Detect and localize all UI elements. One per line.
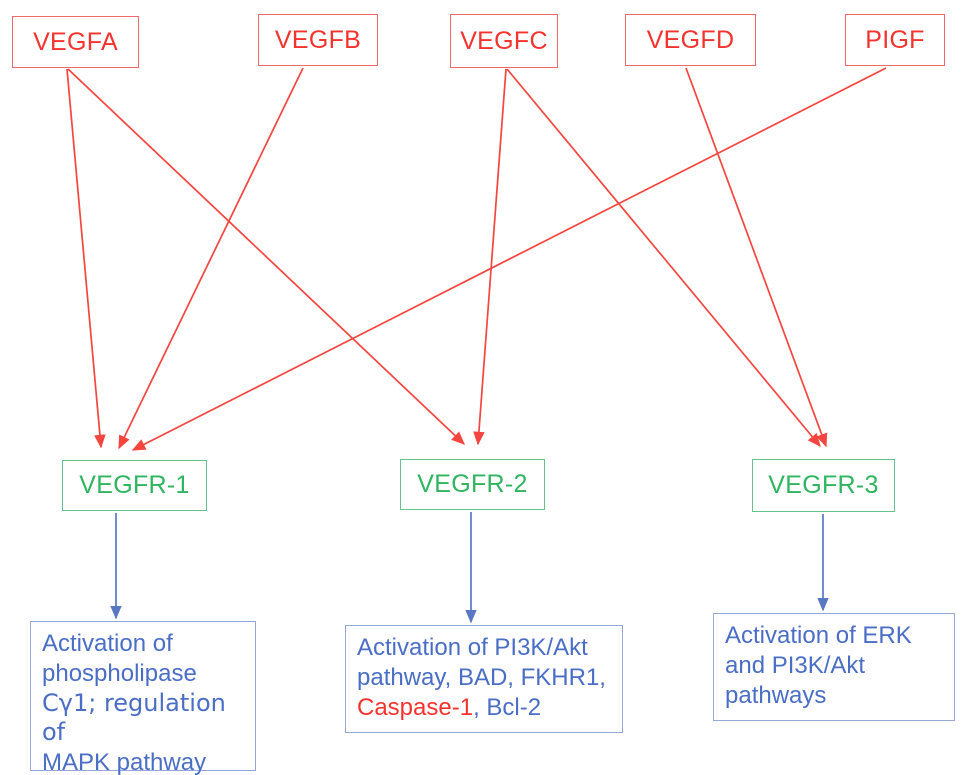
effect-text: Activation of ERK [725, 622, 912, 649]
effect-line: Activation of [42, 629, 245, 659]
ligand-box-label: PIGF [865, 26, 925, 55]
receptor-box-label: VEGFR-1 [79, 471, 189, 500]
arrow-vegfc-vegfr3 [507, 69, 820, 446]
effect-line: pathway, BAD, FKHR1, [357, 663, 612, 693]
ligand-box-vegfc[interactable]: VEGFC [450, 14, 558, 68]
effect-line: Activation of PI3K/Akt [357, 633, 612, 663]
effect-text: pathways [725, 682, 826, 709]
effect-text: pathway, BAD, FKHR1, [357, 664, 606, 691]
arrow-vegfc-vegfr2 [478, 69, 506, 444]
arrow-vegfb-vegfr1 [119, 68, 303, 448]
arrow-vegfd-vegfr3 [686, 68, 826, 446]
ligand-box-label: VEGFB [275, 26, 361, 55]
effect-line: and PI3K/Akt [725, 651, 944, 681]
effect-highlight-term: Caspase-1 [357, 694, 473, 721]
ligand-edge-group [67, 68, 886, 450]
effect-text: and PI3K/Akt [725, 652, 865, 679]
ligand-box-vegfa[interactable]: VEGFA [12, 16, 139, 68]
pathway-diagram: VEGFAVEGFBVEGFCVEGFDPIGF VEGFR-1VEGFR-2V… [0, 0, 969, 775]
ligand-box-vegfd[interactable]: VEGFD [625, 14, 756, 66]
effect-text: Activation of PI3K/Akt [357, 634, 588, 661]
ligand-box-plgf[interactable]: PIGF [845, 14, 945, 66]
effect-line: MAPK pathway [42, 748, 245, 775]
effect-text: MAPK pathway [42, 749, 206, 775]
receptor-box-label: VEGFR-3 [768, 471, 878, 500]
ligand-box-vegfb[interactable]: VEGFB [258, 14, 378, 66]
receptor-box-label: VEGFR-2 [417, 470, 527, 499]
effect-text: , Bcl-2 [473, 694, 541, 721]
effect-line: Caspase-1, Bcl-2 [357, 693, 612, 723]
ligand-box-label: VEGFA [33, 28, 118, 57]
receptor-box-vegfr2[interactable]: VEGFR-2 [400, 459, 545, 510]
effect-box-effect-vegfr2: Activation of PI3K/Aktpathway, BAD, FKHR… [345, 625, 623, 733]
effect-text: Cγ1; regulation of [42, 689, 226, 747]
arrow-vegfa-vegfr1 [67, 69, 101, 447]
receptor-box-vegfr1[interactable]: VEGFR-1 [62, 460, 207, 511]
ligand-box-label: VEGFC [460, 27, 548, 56]
arrow-vegfa-vegfr2 [68, 69, 464, 444]
effect-line: pathways [725, 681, 944, 711]
effect-box-effect-vegfr3: Activation of ERKand PI3K/Aktpathways [713, 613, 955, 721]
receptor-edge-group [116, 512, 823, 622]
effect-line: Cγ1; regulation of [42, 689, 245, 749]
effect-text: phospholipase [42, 660, 197, 687]
arrow-plgf-vegfr1 [133, 68, 886, 450]
receptor-box-vegfr3[interactable]: VEGFR-3 [752, 459, 895, 512]
effect-box-effect-vegfr1: Activation ofphospholipaseCγ1; regulatio… [30, 621, 256, 771]
effect-text: Activation of [42, 630, 173, 657]
effect-line: phospholipase [42, 659, 245, 689]
effect-line: Activation of ERK [725, 621, 944, 651]
ligand-box-label: VEGFD [647, 26, 735, 55]
